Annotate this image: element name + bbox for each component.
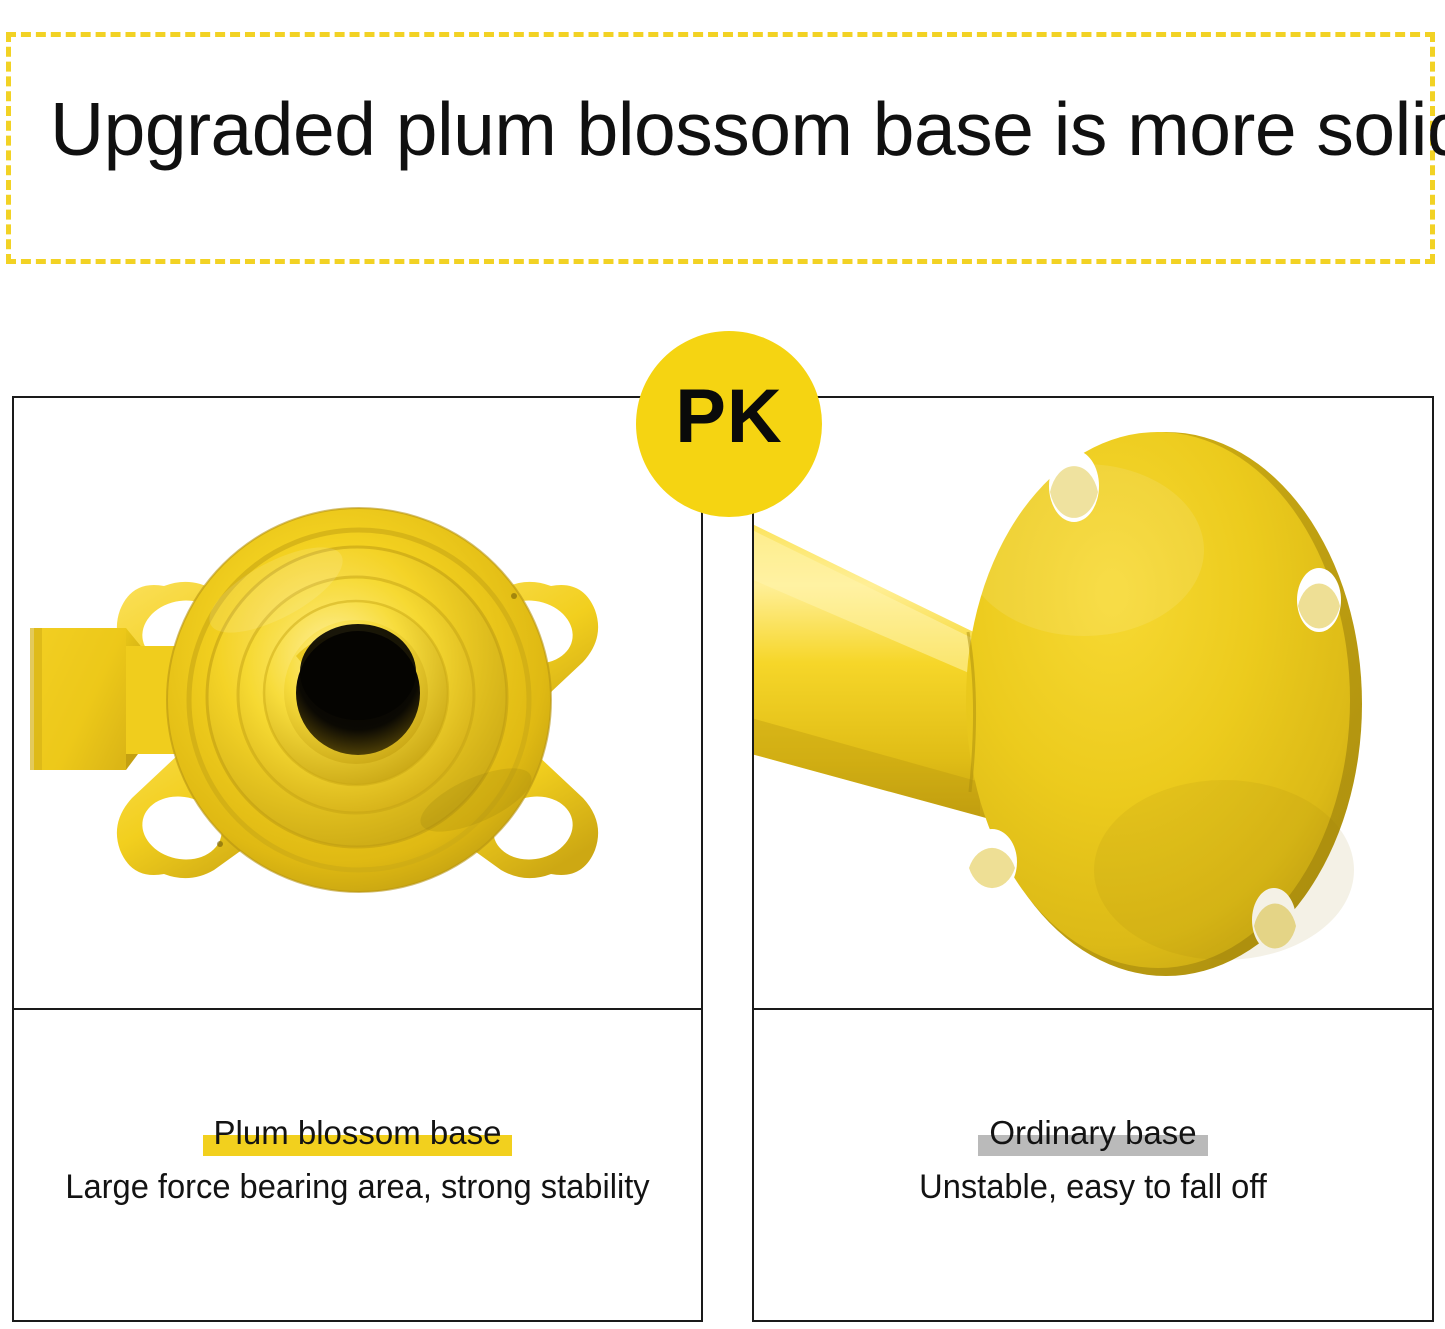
plum-blossom-base-illustration — [14, 398, 701, 1008]
caption-heading-text: Plum blossom base — [214, 1114, 502, 1151]
comparison-panel-plum-blossom: Plum blossom base Large force bearing ar… — [12, 396, 703, 1322]
caption-heading-left: Plum blossom base — [203, 1114, 513, 1152]
caption-heading-right: Ordinary base — [978, 1114, 1207, 1152]
comparison-panel-ordinary: Ordinary base Unstable, easy to fall off — [752, 396, 1434, 1322]
versus-badge: PK — [636, 331, 822, 517]
title-banner: Upgraded plum blossom base is more solid — [6, 32, 1435, 264]
caption-area-left: Plum blossom base Large force bearing ar… — [14, 1010, 701, 1320]
caption-description-right: Unstable, easy to fall off — [768, 1166, 1419, 1208]
ordinary-base-illustration — [754, 398, 1432, 1008]
page-title: Upgraded plum blossom base is more solid — [50, 89, 1400, 169]
caption-heading-text: Ordinary base — [989, 1114, 1196, 1151]
caption-description-left: Large force bearing area, strong stabili… — [28, 1166, 688, 1208]
caption-heading-wrap-left: Plum blossom base — [14, 1114, 701, 1162]
caption-heading-wrap-right: Ordinary base — [754, 1114, 1432, 1162]
plum-blossom-base-photo — [14, 398, 701, 1008]
ordinary-base-photo — [754, 398, 1432, 1008]
versus-badge-label: PK — [636, 377, 822, 457]
caption-area-right: Ordinary base Unstable, easy to fall off — [754, 1010, 1432, 1320]
post-tube — [754, 520, 986, 818]
